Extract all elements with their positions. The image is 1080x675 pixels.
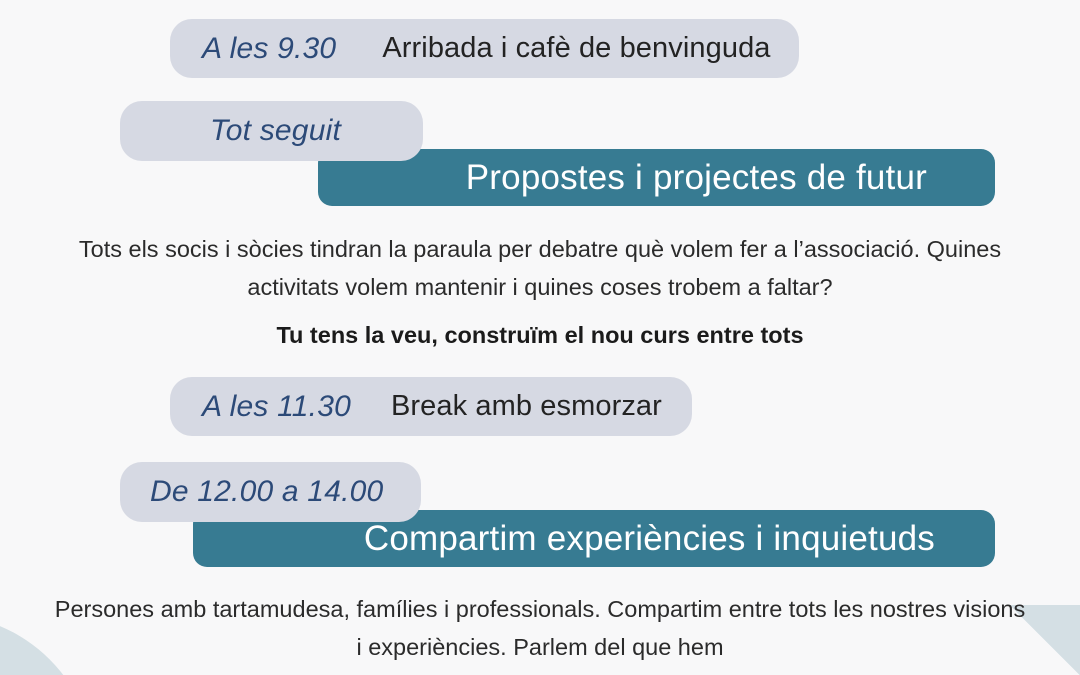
- schedule-time-label: Tot seguit: [210, 114, 341, 148]
- highlight-tu-tens-la-veu: Tu tens la veu, construïm el nou curs en…: [0, 306, 1080, 349]
- schedule-time-label: A les 11.30: [202, 390, 351, 424]
- banner-propostes: Propostes i projectes de futur: [318, 149, 995, 206]
- paragraph-propostes: Tots els socis i sòcies tindran la parau…: [0, 230, 1080, 306]
- schedule-list: A les 9.30 Arribada i cafè de benvinguda…: [0, 0, 1080, 666]
- schedule-time-label: De 12.00 a 14.00: [150, 475, 383, 509]
- paragraph-compartim: Persones amb tartamudesa, famílies i pro…: [0, 590, 1080, 666]
- time-pill-1200-1400: De 12.00 a 14.00: [120, 462, 421, 522]
- time-pill-0930: A les 9.30 Arribada i cafè de benvinguda: [170, 19, 799, 78]
- schedule-row-arribada: A les 9.30 Arribada i cafè de benvinguda: [0, 19, 1080, 78]
- schedule-row-break: A les 11.30 Break amb esmorzar: [0, 377, 1080, 436]
- schedule-time-label: A les 9.30: [202, 32, 336, 66]
- schedule-description-label: Break amb esmorzar: [391, 390, 662, 423]
- banner-title: Compartim experiències i inquietuds: [364, 519, 935, 559]
- banner-title: Propostes i projectes de futur: [466, 158, 927, 198]
- poster-canvas: A les 9.30 Arribada i cafè de benvinguda…: [0, 0, 1080, 675]
- schedule-description-label: Arribada i cafè de benvinguda: [382, 32, 770, 65]
- time-pill-1130: A les 11.30 Break amb esmorzar: [170, 377, 692, 436]
- time-pill-tot-seguit: Tot seguit: [120, 101, 423, 161]
